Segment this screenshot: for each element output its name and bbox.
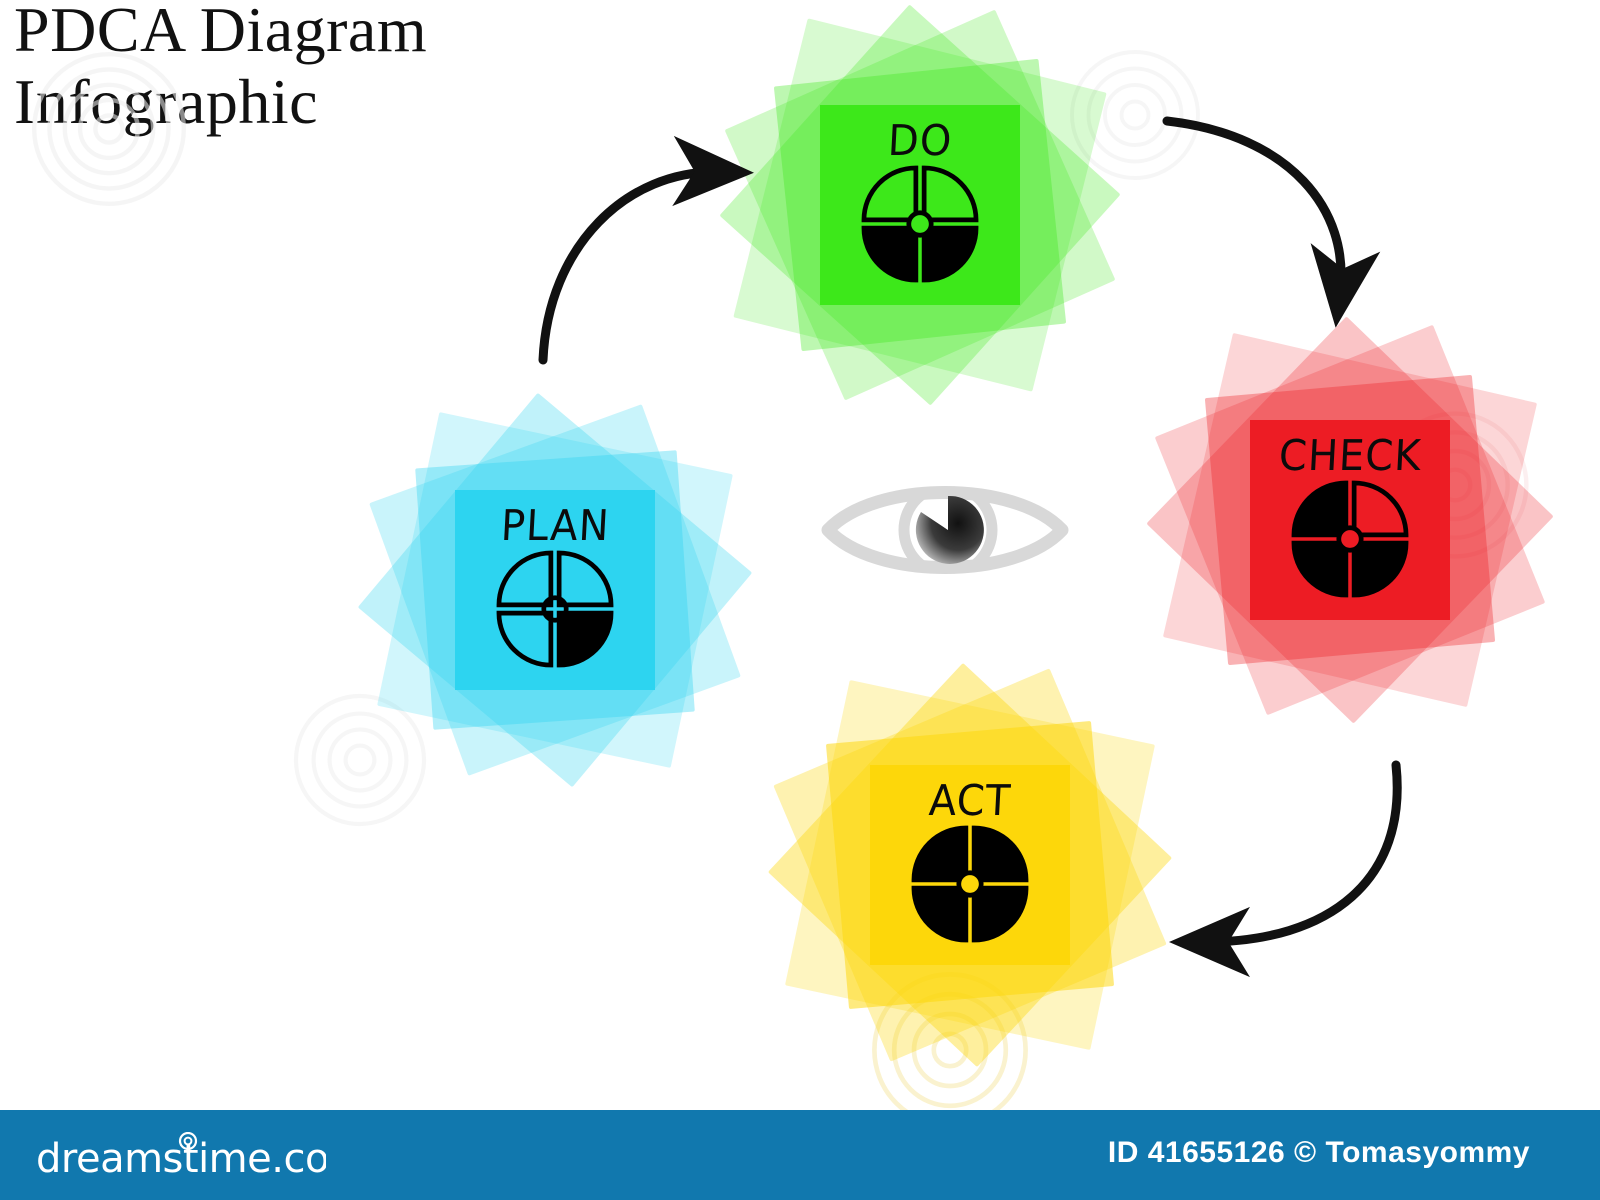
pdca-node-plan[interactable]: PLAN bbox=[345, 380, 765, 800]
node-content: PLAN bbox=[455, 490, 655, 690]
quarter-pie-icon bbox=[1291, 480, 1409, 603]
page-title: PDCA Diagram Infographic bbox=[14, 0, 634, 137]
pdca-infographic-canvas: PDCA Diagram Infographic bbox=[0, 0, 1600, 1200]
arrow-plan-to-do bbox=[543, 172, 718, 360]
arrow-check-to-act bbox=[1205, 765, 1397, 942]
pdca-node-check[interactable]: CHECK bbox=[1140, 310, 1560, 730]
footer-bar: dreamstime.com dreamstime.com ID 4165512… bbox=[0, 1110, 1600, 1200]
node-label-check: CHECK bbox=[1278, 435, 1423, 477]
pdca-node-do[interactable]: DO bbox=[710, 0, 1130, 415]
arrow-do-to-check bbox=[1167, 121, 1341, 292]
dreamstime-logo: dreamstime.com dreamstime.com bbox=[36, 1132, 326, 1178]
node-label-plan: PLAN bbox=[500, 505, 611, 547]
quarter-pie-icon bbox=[911, 825, 1029, 948]
node-label-act: ACT bbox=[928, 780, 1012, 822]
node-content: ACT bbox=[870, 765, 1070, 965]
node-content: CHECK bbox=[1250, 420, 1450, 620]
node-content: DO bbox=[820, 105, 1020, 305]
eye-icon bbox=[820, 470, 1070, 590]
image-credit: ID 41655126 © Tomasyommy bbox=[1108, 1136, 1530, 1170]
quarter-pie-icon bbox=[861, 165, 979, 288]
node-label-do: DO bbox=[887, 120, 954, 162]
pdca-node-act[interactable]: ACT bbox=[760, 655, 1180, 1075]
quarter-pie-icon bbox=[496, 550, 614, 673]
